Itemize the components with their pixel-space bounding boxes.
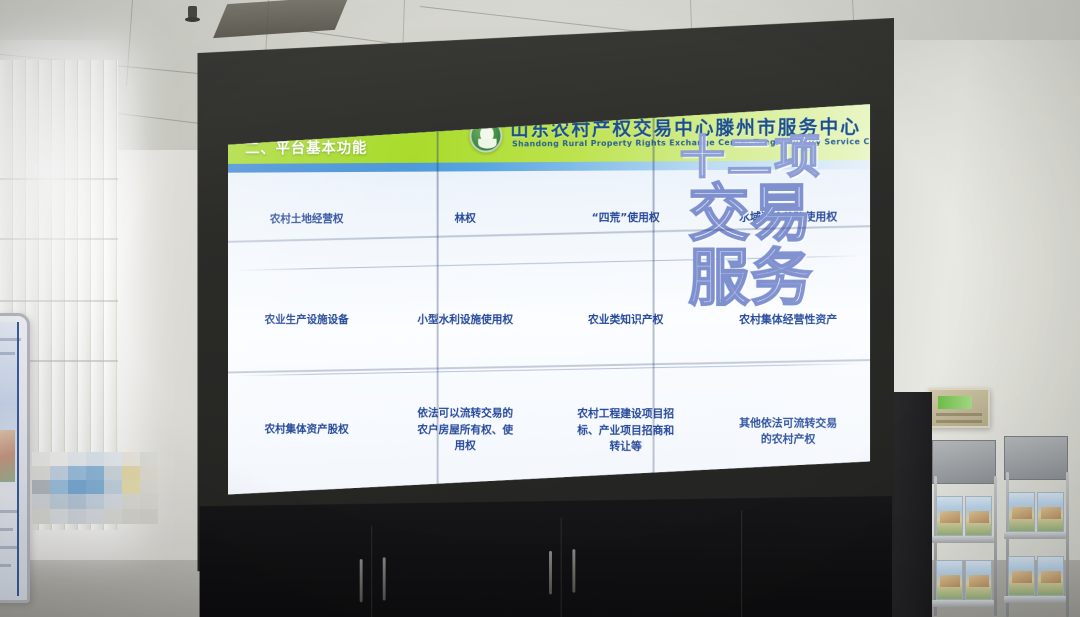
- grid-cell[interactable]: 农村土地经营权: [228, 177, 386, 262]
- grid-cell[interactable]: 水域滩涂养殖使用权: [707, 174, 870, 260]
- brochure: [936, 560, 963, 600]
- grid-cell-label: 水域滩涂养殖使用权: [739, 209, 837, 226]
- grid-cell-label: 其他依法可流转交易的农村产权: [735, 415, 842, 448]
- brochure: [936, 496, 963, 536]
- grid-cell-label: 依法可以流转交易的农户房屋所有权、使用权: [413, 406, 517, 455]
- grid-cell[interactable]: 依法可以流转交易的农户房屋所有权、使用权: [386, 383, 546, 478]
- cabinet-handle[interactable]: [360, 559, 363, 602]
- grid-cell-label: 农村土地经营权: [270, 211, 344, 227]
- mosaic-censor-block: [32, 452, 158, 524]
- cabinet-handle[interactable]: [549, 551, 552, 594]
- grid-cell-label: 林权: [455, 210, 476, 226]
- brochure: [965, 496, 992, 536]
- grid-cell-label: 农村集体经营性资产: [739, 312, 837, 328]
- panel-seam: [437, 108, 439, 496]
- grid-cell-label: 小型水利设施使用权: [417, 312, 513, 328]
- grid-cell-label: “四荒”使用权: [592, 210, 660, 227]
- grid-cell[interactable]: 农村集体经营性资产: [707, 274, 870, 366]
- table-row: 农业生产设施设备 小型水利设施使用权 农业类知识产权 农村集体经营性资产: [228, 274, 870, 366]
- grid-cell[interactable]: 农村集体资产股权: [228, 382, 386, 477]
- grid-cell[interactable]: 农村工程建设项目招标、产业项目招商和转让等: [545, 383, 706, 479]
- cabinet-handle[interactable]: [383, 557, 386, 600]
- services-grid: 农村土地经营权 林权 “四荒”使用权 水域滩涂养殖使用权 农业生产设施设备 小型…: [228, 170, 870, 499]
- standee-poster: [0, 313, 30, 603]
- room-scene: 二、平台基本功能 山东农村产权交易中心滕州市服务中心 Shandong Rura…: [0, 0, 1080, 617]
- brochure: [1008, 492, 1035, 532]
- cabinet-handle[interactable]: [572, 549, 575, 593]
- grid-cell[interactable]: 林权: [386, 176, 546, 261]
- panel-seam: [653, 106, 655, 497]
- brochure: [1008, 556, 1035, 596]
- brochure: [1037, 492, 1064, 532]
- grid-cell[interactable]: 小型水利设施使用权: [386, 275, 546, 366]
- wall-plaque: [928, 388, 990, 428]
- brochure: [965, 560, 992, 600]
- brochure-rack: [926, 440, 1080, 617]
- grid-cell[interactable]: “四荒”使用权: [545, 175, 706, 261]
- display-cabinet-base: [200, 491, 892, 617]
- table-row: 农村集体资产股权 依法可以流转交易的农户房屋所有权、使用权 农村工程建设项目招标…: [228, 382, 870, 480]
- brochure: [1037, 556, 1064, 596]
- table-row: 农村土地经营权 林权 “四荒”使用权 水域滩涂养殖使用权: [228, 174, 870, 261]
- grid-cell[interactable]: 农业类知识产权: [545, 274, 706, 365]
- grid-cell-label: 农村工程建设项目招标、产业项目招商和转让等: [573, 406, 679, 455]
- video-wall: 二、平台基本功能 山东农村产权交易中心滕州市服务中心 Shandong Rura…: [198, 18, 894, 617]
- grid-cell-label: 农村集体资产股权: [265, 421, 349, 437]
- grid-cell-label: 农业生产设施设备: [265, 312, 349, 328]
- video-wall-screen[interactable]: 二、平台基本功能 山东农村产权交易中心滕州市服务中心 Shandong Rura…: [228, 104, 870, 499]
- sprinkler-head: [188, 6, 197, 22]
- grid-cell[interactable]: 农业生产设施设备: [228, 275, 386, 365]
